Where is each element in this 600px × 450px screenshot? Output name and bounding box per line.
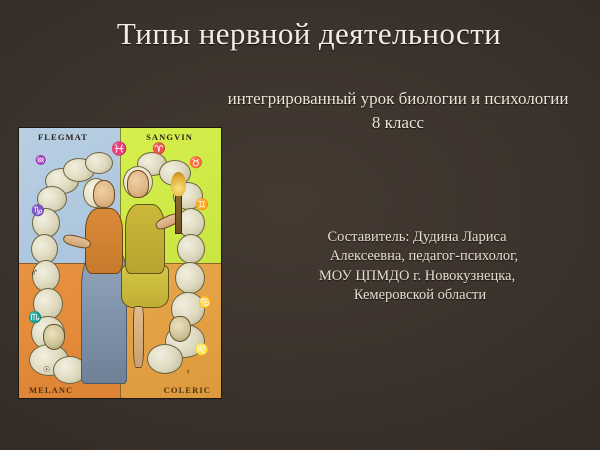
presentation-slide: Типы нервной деятельности интегрированны…: [0, 0, 600, 450]
torch-handle: [175, 194, 182, 234]
scorpio-icon: ♏: [28, 313, 42, 324]
cloud-puff: [177, 234, 205, 264]
cloud-puff: [175, 262, 205, 294]
head-left: [93, 180, 115, 208]
figure-sanguine-choleric: [119, 158, 173, 384]
author-line-3: МОУ ЦПМДО г. Новокузнецка,: [252, 267, 582, 286]
mars-icon: ♂: [30, 268, 38, 279]
author-line-4: Кемеровской области: [252, 286, 582, 305]
urn-vessel-left: [43, 324, 65, 350]
subtitle-line-1: интегрированный урок биологии и: [228, 89, 481, 108]
torso-green: [125, 204, 165, 274]
aquarius-icon: ♒: [35, 156, 45, 165]
taurus-icon: ♉: [189, 158, 203, 169]
torch-flame: [171, 172, 186, 196]
pisces-icon: ♓: [111, 142, 127, 155]
aries-icon: ♈: [152, 144, 166, 155]
leg-right: [133, 306, 144, 368]
torso-orange: [85, 208, 123, 274]
label-flegmat: FLEGMAT: [38, 132, 88, 142]
leo-icon: ♌: [195, 345, 209, 356]
capricorn-icon: ♑: [31, 206, 45, 217]
author-credits: Составитель: Дудина Лариса Алексеевна, п…: [252, 228, 582, 306]
four-temperaments-image: FLEGMAT SANGVIN MELANC COLERIC ♓ ♈ ♉ ♊ ♒…: [18, 127, 222, 399]
subtitle-line-2: психологии: [484, 89, 568, 108]
label-coleric: COLERIC: [164, 385, 211, 395]
venus-icon: ♀: [185, 368, 191, 376]
head-right: [127, 170, 149, 198]
label-melanc: MELANC: [29, 385, 73, 395]
subtitle-block: интегрированный урок биологии и психолог…: [196, 88, 600, 134]
cancer-icon: ♋: [198, 298, 212, 309]
author-line-1: Составитель: Дудина Лариса: [252, 228, 582, 247]
grade-label: 8 класс: [196, 112, 600, 134]
label-sangvin: SANGVIN: [146, 132, 193, 142]
page-title: Типы нервной деятельности: [0, 16, 600, 52]
gemini-icon: ♊: [195, 200, 209, 211]
author-line-2: Алексеевна, педагог-психолог,: [252, 247, 582, 266]
sun-icon: ☉: [43, 366, 50, 374]
